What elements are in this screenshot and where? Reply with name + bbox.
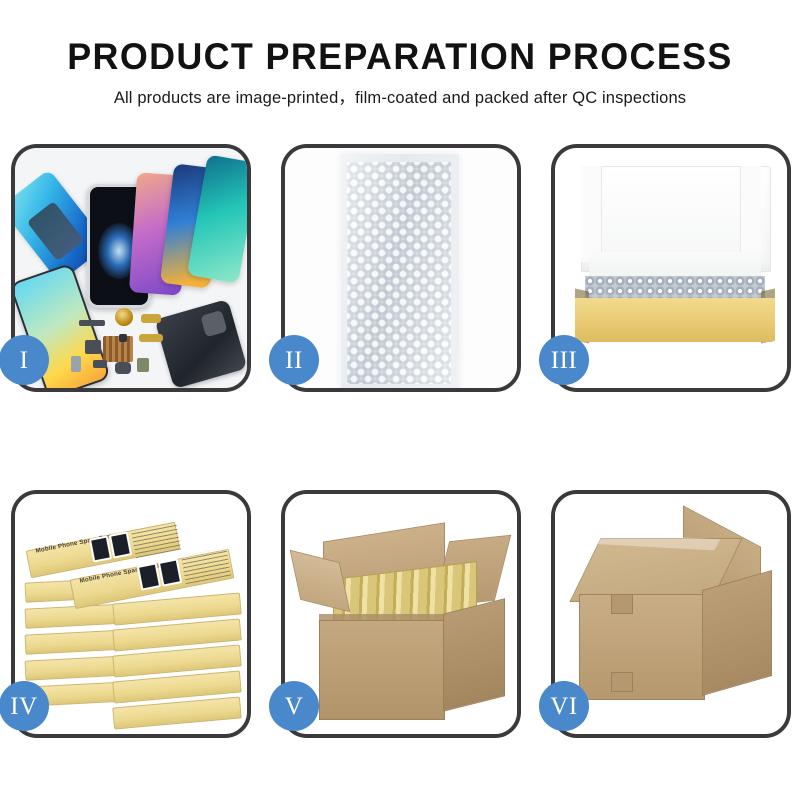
carton-front-face — [319, 620, 445, 720]
step-6-illustration — [555, 494, 787, 734]
sim-tray-icon — [71, 356, 81, 372]
step-5-illustration — [285, 494, 517, 734]
sealed-carton-front-face — [579, 594, 705, 700]
process-step-5: V — [269, 486, 539, 744]
step-2-badge: II — [269, 335, 319, 385]
step-1-illustration — [15, 148, 247, 388]
button-icon — [115, 362, 131, 374]
sealed-carton-side-face — [702, 570, 772, 696]
process-step-2: II — [269, 140, 539, 398]
bracket-icon — [85, 340, 101, 354]
process-step-1: I — [0, 140, 269, 398]
sensor-icon — [137, 358, 149, 372]
product-preparation-page: PRODUCT PREPARATION PROCESS All products… — [0, 0, 800, 800]
mailer-box-front-icon — [575, 298, 775, 342]
step-1-badge: I — [0, 335, 49, 385]
step-4-illustration: Mobile Phone Spare Parts Mobile Phone Sp… — [15, 494, 247, 734]
carton-side-face — [443, 598, 505, 711]
flex-cable-icon — [141, 314, 161, 323]
carton-tab-top — [611, 594, 633, 614]
ic-chip-icon — [119, 334, 127, 342]
step-4-badge: IV — [0, 681, 49, 731]
step-5-badge: V — [269, 681, 319, 731]
mailer-lid-flap-left — [581, 166, 602, 262]
page-subtitle: All products are image-printed，film-coat… — [0, 90, 800, 107]
process-step-3: III — [539, 140, 800, 398]
process-step-6: VI — [539, 486, 800, 744]
page-title: PRODUCT PREPARATION PROCESS — [12, 38, 788, 75]
speaker-coil-icon — [115, 308, 133, 326]
step-3-illustration — [555, 148, 787, 388]
box-spec-lines — [131, 522, 181, 558]
page-header: PRODUCT PREPARATION PROCESS All products… — [0, 0, 800, 107]
carton-tab-bottom — [611, 672, 633, 692]
step-2-illustration — [285, 148, 517, 388]
antenna-strip-icon — [79, 320, 105, 326]
mailer-lid-flap-right — [740, 166, 761, 262]
step-3-badge: III — [539, 335, 589, 385]
retail-box-stack-icon: Mobile Phone Spare Parts Mobile Phone Sp… — [21, 520, 247, 720]
step-6-badge: VI — [539, 681, 589, 731]
process-step-4: Mobile Phone Spare Parts Mobile Phone Sp… — [0, 486, 269, 744]
process-step-grid: I II — [0, 140, 800, 744]
flex-cable-2-icon — [139, 334, 163, 342]
screw-set-icon — [93, 360, 107, 368]
bubble-wrap-sheen — [347, 162, 451, 384]
chip-grid-icon — [103, 336, 133, 362]
